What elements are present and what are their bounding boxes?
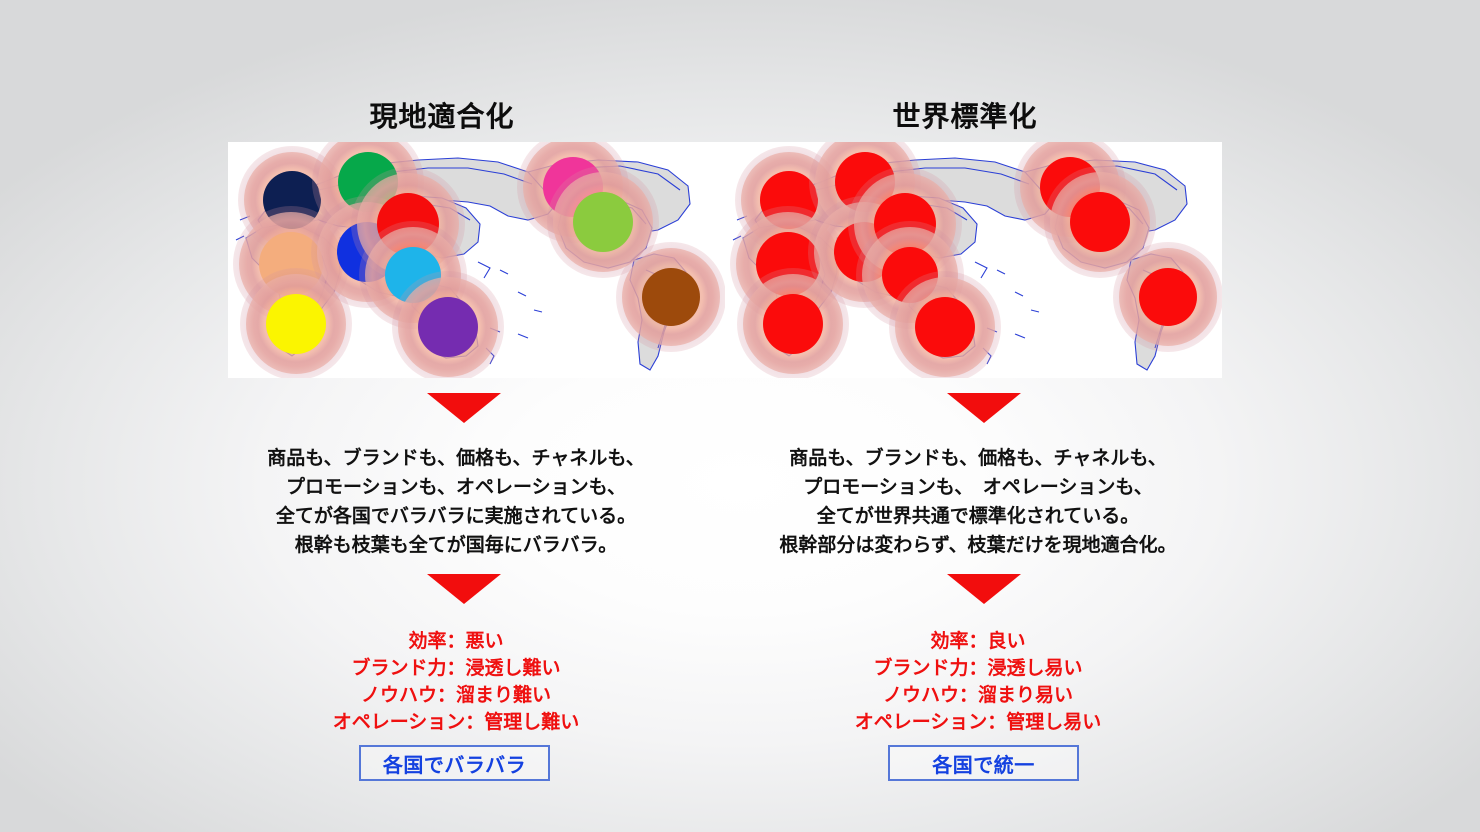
column-title-global-standardization: 世界標準化 [715, 95, 1215, 135]
outcome-points-local-adaptation: 効率：悪い ブランド力：浸透し難い ノウハウ：溜まり難い オペレーション：管理し… [196, 628, 716, 736]
map-pin-dot [266, 294, 326, 354]
outcome-points-global-standardization: 効率：良い ブランド力：浸透し易い ノウハウ：溜まり易い オペレーション：管理し… [718, 628, 1238, 736]
map-pin-dot [915, 297, 975, 357]
map-pin-oceania [398, 277, 498, 377]
map-pin-dot [1070, 192, 1130, 252]
map-pin-dot [573, 192, 633, 252]
world-map-global-standardization [725, 142, 1222, 378]
slide-canvas: 現地適合化 世界標準化 [0, 0, 1480, 832]
description-global-standardization: 商品も、ブランドも、価格も、チャネルも、 プロモーションも、 オペレーションも、… [718, 444, 1238, 560]
description-local-adaptation: 商品も、ブランドも、価格も、チャネルも、 プロモーションも、オペレーションも、 … [196, 444, 716, 560]
down-arrow-icon-right-1 [947, 393, 1021, 423]
conclusion-box-global-standardization: 各国で統一 [888, 745, 1079, 781]
world-map-local-adaptation [228, 142, 725, 378]
map-pin-dot [642, 268, 700, 326]
map-pin-south-america [1119, 248, 1217, 346]
map-pin-dot [418, 297, 478, 357]
column-title-local-adaptation: 現地適合化 [192, 95, 692, 135]
map-pin-dot [763, 294, 823, 354]
down-arrow-icon-left-1 [427, 393, 501, 423]
map-pin-dot [1139, 268, 1197, 326]
conclusion-box-local-adaptation: 各国でバラバラ [359, 745, 550, 781]
down-arrow-icon-right-2 [947, 574, 1021, 604]
map-pin-south-america [622, 248, 720, 346]
map-pin-oceania [895, 277, 995, 377]
world-map-band [228, 142, 1222, 378]
down-arrow-icon-left-2 [427, 574, 501, 604]
